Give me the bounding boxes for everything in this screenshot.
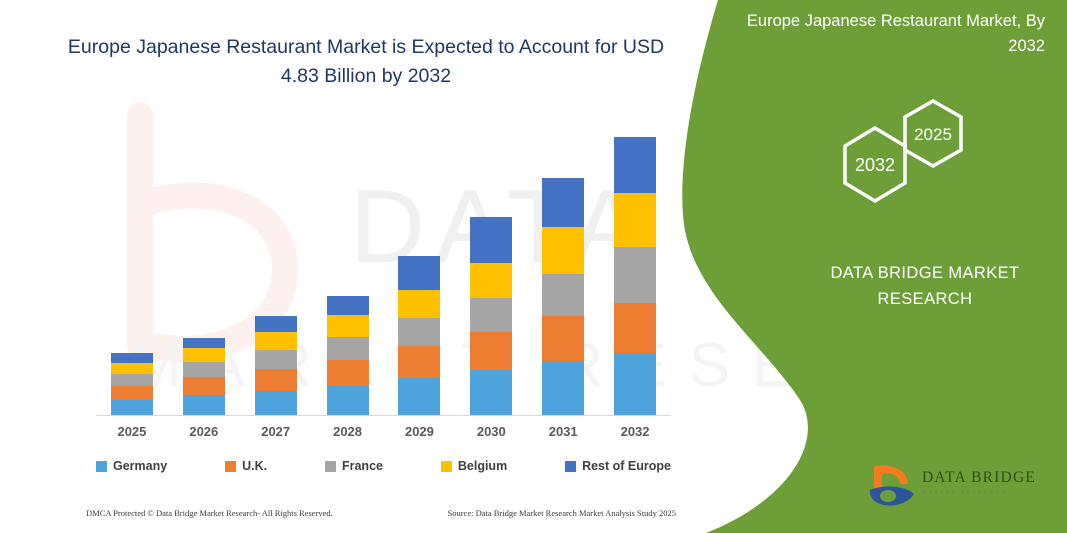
panel-title: Europe Japanese Restaurant Market, By 20…: [745, 9, 1045, 59]
bar-2029: [398, 256, 440, 416]
legend-swatch-icon: [96, 461, 107, 472]
bar-segment-rest-of-europe-2029: [398, 256, 440, 290]
bar-segment-belgium-2028: [327, 315, 369, 337]
bar-2030: [470, 217, 512, 416]
logo-sub-text: MARKET RESEARCH: [922, 490, 1042, 496]
bar-segment-germany-2026: [183, 395, 225, 416]
bar-segment-belgium-2031: [542, 227, 584, 274]
bar-segment-u-k--2029: [398, 346, 440, 378]
x-label-2025: 2025: [96, 424, 168, 439]
bar-2028: [327, 296, 369, 416]
bar-segment-france-2031: [542, 274, 584, 316]
bar-segment-rest-of-europe-2026: [183, 338, 225, 348]
bar-segment-rest-of-europe-2030: [470, 217, 512, 263]
bar-segment-france-2026: [183, 362, 225, 377]
bar-segment-u-k--2027: [255, 369, 297, 391]
bar-segment-france-2027: [255, 350, 297, 369]
bar-segment-rest-of-europe-2027: [255, 316, 297, 332]
x-label-2028: 2028: [312, 424, 384, 439]
bar-segment-u-k--2032: [614, 303, 656, 353]
logo-main-text: DATA BRIDGE: [922, 469, 1042, 487]
bar-segment-u-k--2031: [542, 316, 584, 361]
legend-swatch-icon: [225, 461, 236, 472]
bar-segment-rest-of-europe-2028: [327, 296, 369, 315]
legend-item-belgium[interactable]: Belgium: [441, 459, 507, 473]
bar-segment-france-2030: [470, 298, 512, 332]
logo-wordmark: DATA BRIDGE MARKET RESEARCH: [922, 469, 1042, 496]
legend-label: U.K.: [242, 459, 267, 473]
panel-brand-line1: DATA BRIDGE MARKET: [790, 260, 1060, 286]
chart-title: Europe Japanese Restaurant Market is Exp…: [66, 33, 666, 91]
legend-swatch-icon: [325, 461, 336, 472]
x-label-2032: 2032: [599, 424, 671, 439]
bar-2032: [614, 137, 656, 416]
bar-segment-u-k--2026: [183, 377, 225, 395]
bar-segment-germany-2032: [614, 353, 656, 416]
bar-segment-belgium-2029: [398, 290, 440, 318]
bar-segment-rest-of-europe-2025: [111, 353, 153, 363]
bar-2026: [183, 338, 225, 416]
bar-2031: [542, 178, 584, 416]
legend-item-u-k-[interactable]: U.K.: [225, 459, 267, 473]
infographic-slide: DATA BRIDGE MARKET RESEARCH Europe Japan…: [0, 0, 1067, 533]
bar-segment-belgium-2027: [255, 332, 297, 350]
panel-brand-text: DATA BRIDGE MARKET RESEARCH: [790, 260, 1060, 312]
bar-segment-rest-of-europe-2031: [542, 178, 584, 227]
legend-label: Germany: [113, 459, 167, 473]
stacked-bar-plot: [96, 120, 671, 416]
data-bridge-logo-mark: [866, 462, 918, 510]
panel-brand-line2: RESEARCH: [790, 286, 1060, 312]
x-axis-labels: 20252026202720282029203020312032: [96, 424, 671, 446]
bar-segment-u-k--2028: [327, 360, 369, 386]
hexagon-2032-label: 2032: [855, 155, 895, 175]
footer-source: Source: Data Bridge Market Research Mark…: [447, 508, 676, 518]
x-label-2029: 2029: [383, 424, 455, 439]
x-axis-line: [96, 415, 671, 416]
bar-segment-france-2025: [111, 374, 153, 386]
bar-segment-germany-2030: [470, 370, 512, 416]
bar-segment-germany-2027: [255, 391, 297, 416]
legend-swatch-icon: [565, 461, 576, 472]
x-label-2027: 2027: [240, 424, 312, 439]
bar-segment-germany-2031: [542, 361, 584, 416]
bar-segment-france-2029: [398, 318, 440, 346]
bar-segment-france-2028: [327, 337, 369, 360]
bar-segment-belgium-2026: [183, 348, 225, 362]
x-label-2031: 2031: [527, 424, 599, 439]
hexagon-2025-label: 2025: [914, 125, 952, 144]
legend-label: Belgium: [458, 459, 507, 473]
legend-swatch-icon: [441, 461, 452, 472]
x-label-2030: 2030: [455, 424, 527, 439]
hexagon-badges: 2032 2025: [820, 95, 990, 210]
legend-label: Rest of Europe: [582, 459, 671, 473]
bar-segment-belgium-2030: [470, 263, 512, 298]
footer-copyright: DMCA Protected © Data Bridge Market Rese…: [86, 508, 333, 518]
bar-segment-u-k--2030: [470, 332, 512, 370]
legend-label: France: [342, 459, 383, 473]
legend-item-rest-of-europe[interactable]: Rest of Europe: [565, 459, 671, 473]
footer: DMCA Protected © Data Bridge Market Rese…: [86, 508, 676, 518]
x-label-2026: 2026: [168, 424, 240, 439]
legend-item-france[interactable]: France: [325, 459, 383, 473]
bar-segment-u-k--2025: [111, 386, 153, 400]
bar-segment-france-2032: [614, 247, 656, 303]
bar-segment-germany-2028: [327, 386, 369, 416]
bar-segment-belgium-2032: [614, 193, 656, 247]
legend-item-germany[interactable]: Germany: [96, 459, 167, 473]
bar-segment-belgium-2025: [111, 363, 153, 374]
bar-2027: [255, 316, 297, 416]
bar-segment-germany-2025: [111, 400, 153, 416]
bar-segment-germany-2029: [398, 378, 440, 416]
bar-2025: [111, 353, 153, 416]
company-logo: DATA BRIDGE MARKET RESEARCH: [866, 462, 1041, 510]
chart-legend: GermanyU.K.FranceBelgiumRest of Europe: [96, 455, 671, 477]
bar-segment-rest-of-europe-2032: [614, 137, 656, 193]
